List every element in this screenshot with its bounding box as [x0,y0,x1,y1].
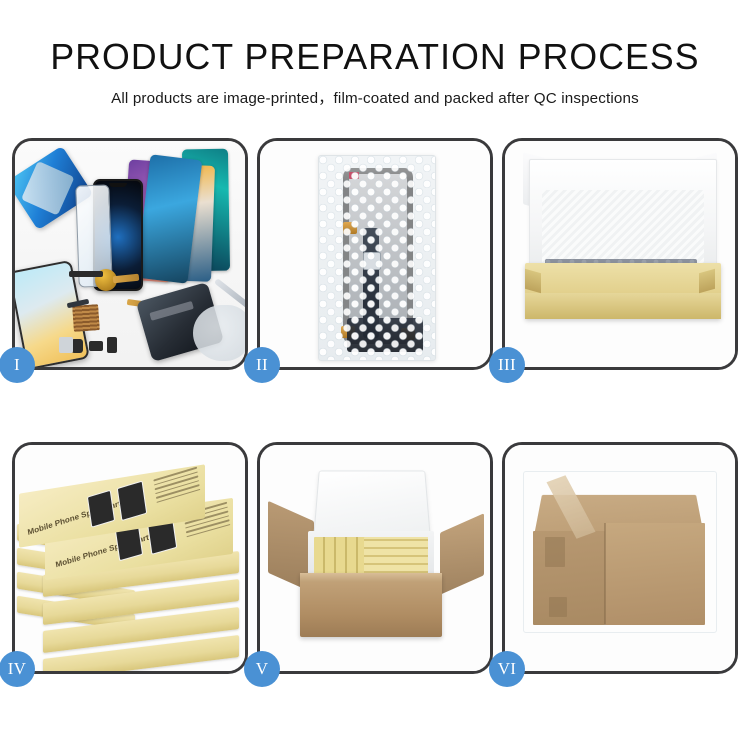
step-badge: IV [0,651,35,687]
process-step-grid: I Assorted mobile phone LCD screens, fro… [12,138,738,674]
panel-image-clip: Mobile Phone Spare Parts Mobile Phone Sp… [15,445,245,671]
page-title: PRODUCT PREPARATION PROCESS [4,0,747,76]
carton-left-face [533,531,605,625]
panel-parts-overview[interactable]: I Assorted mobile phone LCD screens, fro… [12,138,248,370]
panel-image-clip [260,445,490,671]
photo-open-carton [260,445,490,671]
panel-bubble-wrapped-lcd[interactable]: II Single phone LCD assembly sealed insi… [257,138,493,370]
photo-phone-parts-overview [15,141,245,367]
box-spec-lines [153,467,200,506]
step-badge: V [244,651,280,687]
panel-inner-box-packing[interactable]: III Open yellow kraft box with white foa… [502,138,738,370]
panel-image-clip [260,141,490,367]
panel-image-clip [15,141,245,367]
foam-sheet [542,190,704,266]
small-part-tray [59,337,73,353]
small-part-button [107,337,117,353]
step-badge: II [244,347,280,383]
page-subtitle: All products are image-printed，film-coat… [0,76,750,108]
photo-bubble-wrapped-lcd [260,141,490,367]
panel-stacked-boxes[interactable]: Mobile Phone Spare Parts Mobile Phone Sp… [12,442,248,674]
panel-image-clip [505,445,735,671]
carton-flap-mark-bottom [549,597,567,617]
box-screen-image-a [87,490,115,528]
step-badge: I [0,347,35,383]
header: PRODUCT PREPARATION PROCESS All products… [0,0,750,108]
panel-sealed-carton[interactable]: VI Sealed brown cardboard shipping carto… [502,442,738,674]
small-part-strip [69,271,103,277]
photo-open-inner-box [505,141,735,367]
carton-flap-right [440,513,484,595]
step-badge: VI [489,651,525,687]
box-corner-left [525,269,541,294]
carton-vertical-seam [604,523,606,625]
carton-flap-mark-top [545,537,565,567]
carton-rim [300,573,442,582]
kraft-box-front-wall [525,293,721,319]
panel-carton-filling[interactable]: V Open cardboard carton with foam liner … [257,442,493,674]
connector-array-chip [72,304,100,332]
small-part-camera [89,341,103,351]
phone-notch [109,183,127,187]
bubble-wrap-bag [318,155,436,361]
photo-sealed-carton [505,445,735,671]
hand-blur [193,305,245,361]
box-screen-image-b [117,481,147,522]
blue-lcd-inner [21,161,75,216]
carton-right-face [605,523,705,625]
photo-stacked-kraft-boxes: Mobile Phone Spare Parts Mobile Phone Sp… [15,445,245,671]
step-badge: III [489,347,525,383]
bubble-texture [319,156,435,360]
carton-front-wall [300,573,442,637]
panel-image-clip [505,141,735,367]
